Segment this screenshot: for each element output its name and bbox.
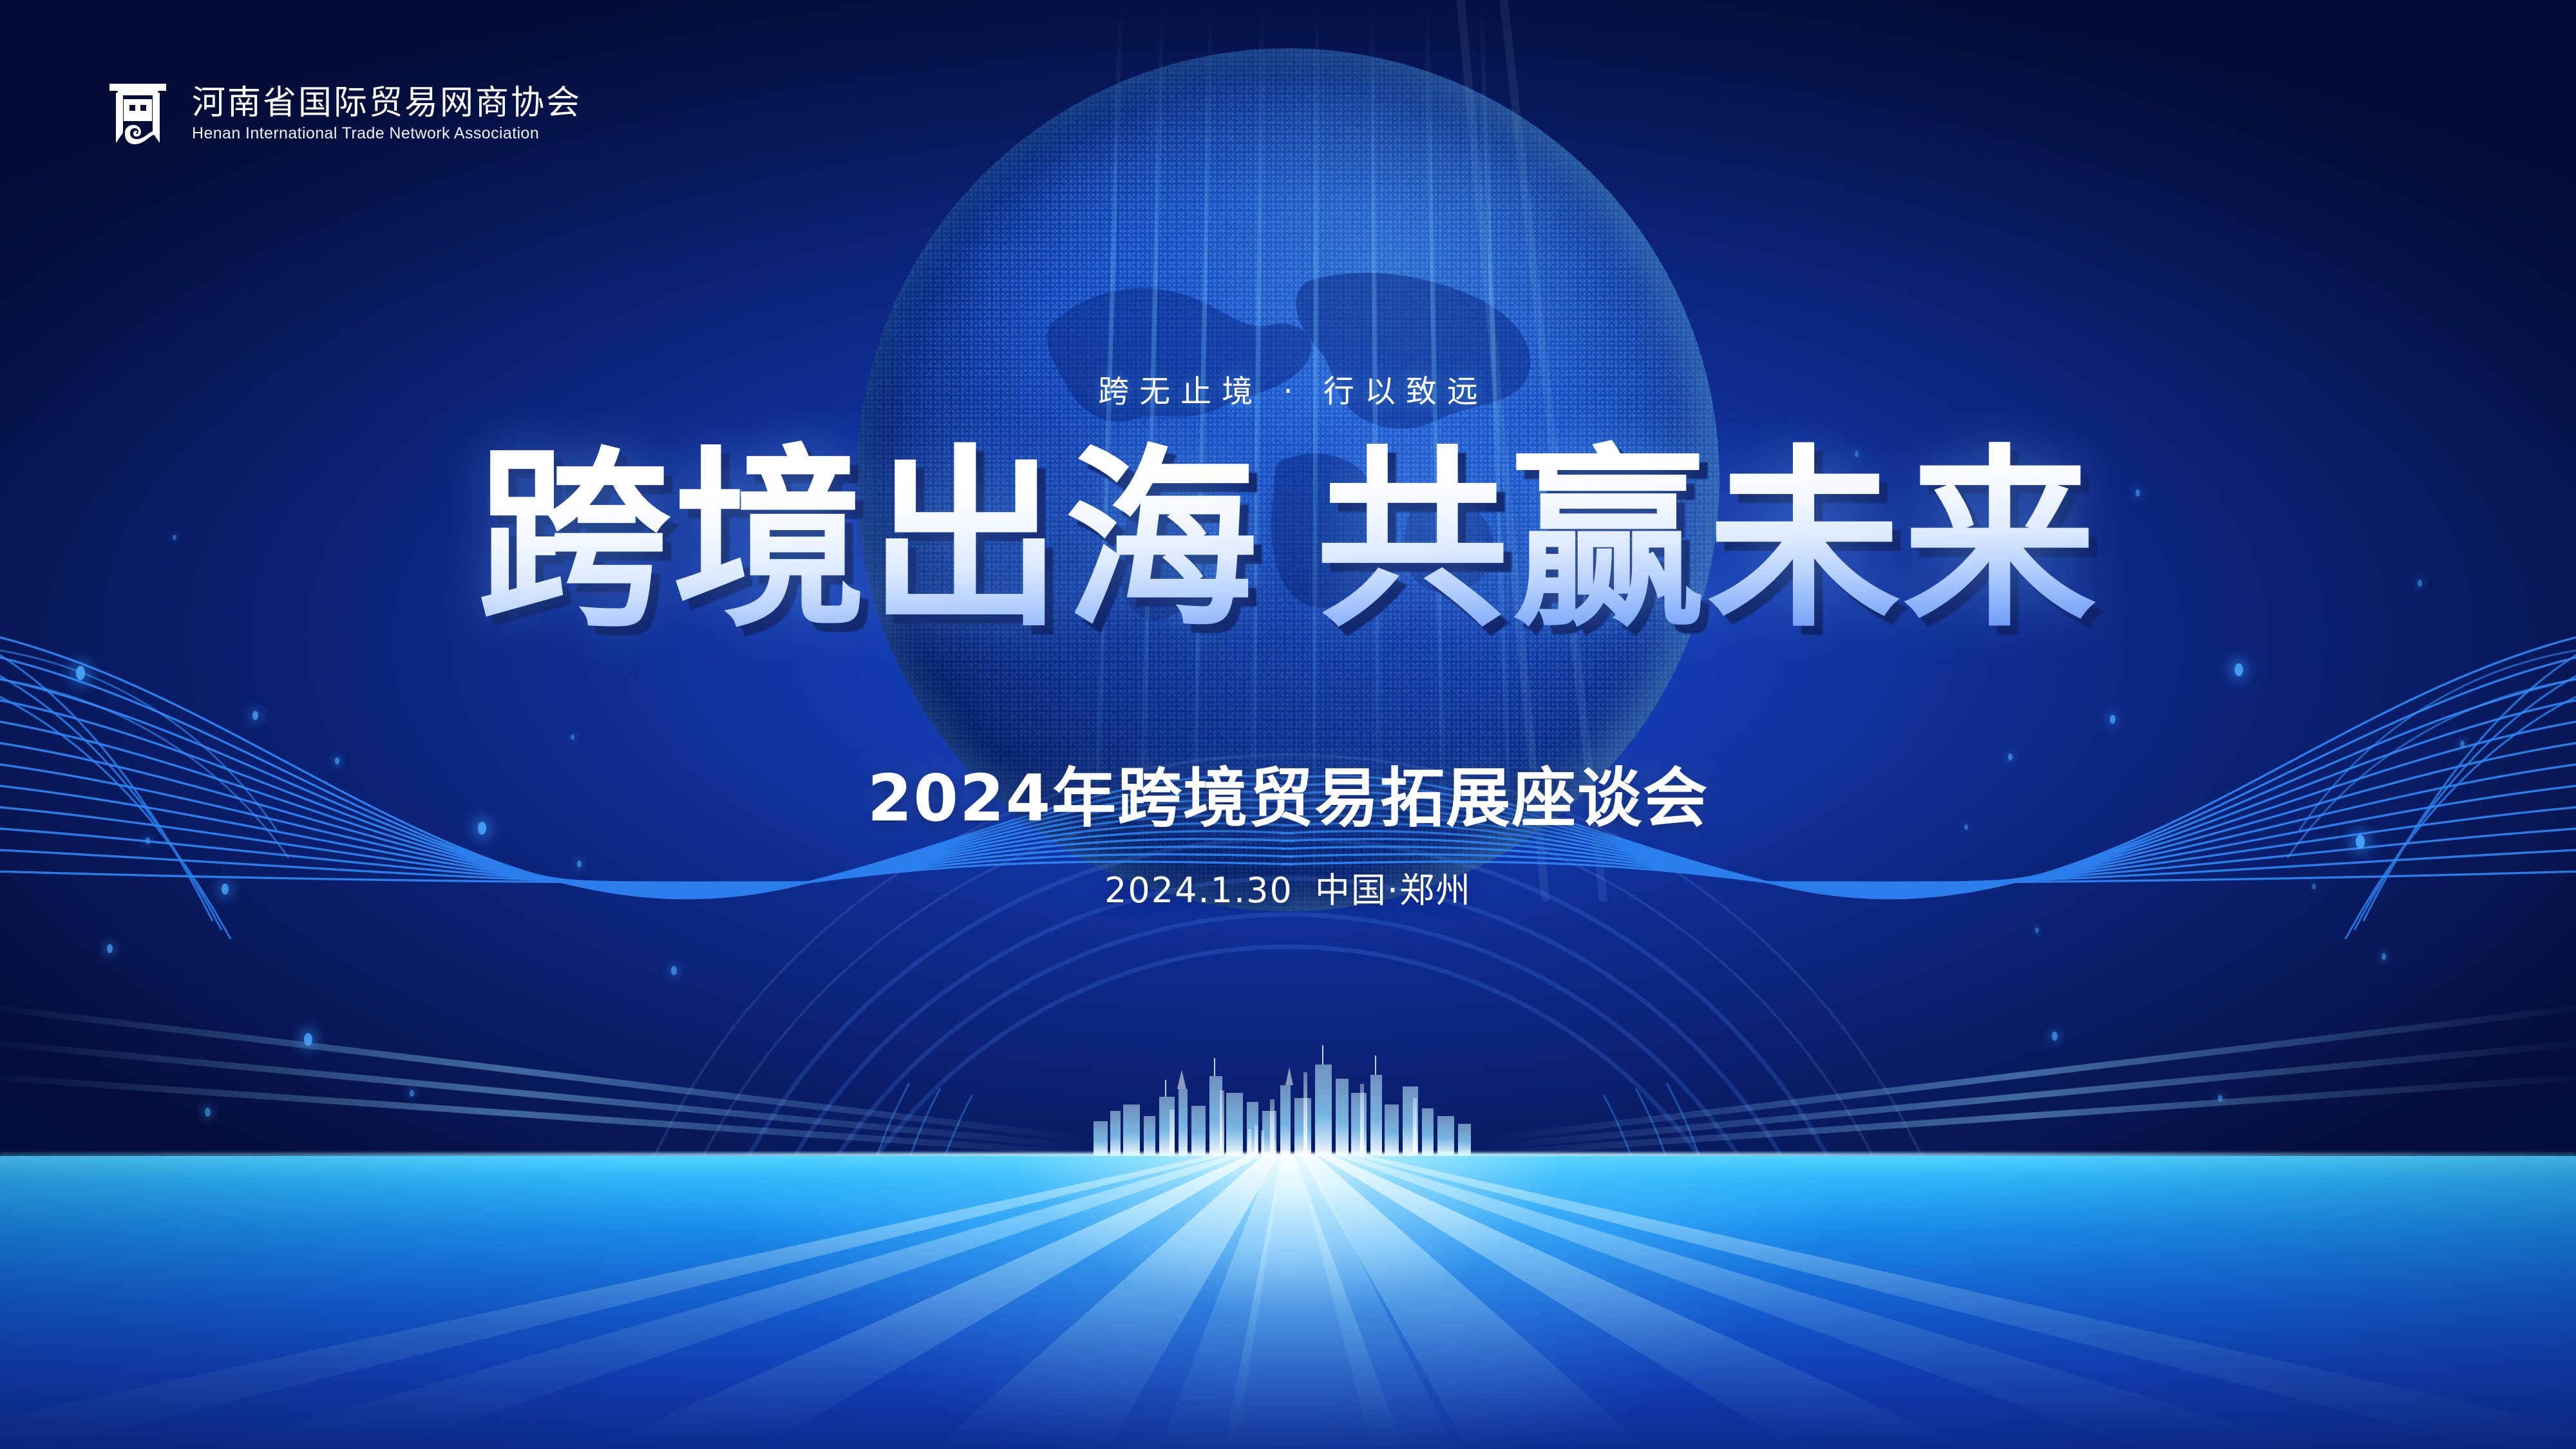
hero-title: 跨境出海共赢未来 跨境出海共赢未来 xyxy=(477,444,2099,638)
hero-title-face: 跨境出海共赢未来 xyxy=(477,428,2099,653)
ground-light-rays xyxy=(0,1156,2576,1449)
logo-text-block: 河南省国际贸易网商协会 Henan International Trade Ne… xyxy=(192,85,582,142)
city-skyline xyxy=(1082,1008,1494,1156)
event-date-location: 2024.1.30中国·郑州 xyxy=(0,862,2576,913)
hero-title-part1: 跨境出海 xyxy=(477,428,1260,653)
hero-tagline: 跨无止境 · 行以致远 xyxy=(0,366,2576,411)
hero-title-wrap: 跨境出海共赢未来 跨境出海共赢未来 xyxy=(0,444,2576,638)
poster-canvas: 河南省国际贸易网商协会 Henan International Trade Ne… xyxy=(0,0,2576,1449)
association-logo[interactable]: 河南省国际贸易网商协会 Henan International Trade Ne… xyxy=(103,77,582,149)
ground-plane xyxy=(0,1156,2576,1449)
event-location: 中国·郑州 xyxy=(1315,870,1472,911)
event-subtitle: 2024年跨境贸易拓展座谈会 xyxy=(0,746,2576,839)
logo-name-cn: 河南省国际贸易网商协会 xyxy=(192,85,582,121)
event-date: 2024.1.30 xyxy=(1104,870,1293,911)
sky-streak-lines xyxy=(0,979,2576,1166)
logo-name-en: Henan International Trade Network Associ… xyxy=(192,125,582,142)
hero-title-part2: 共赢未来 xyxy=(1316,428,2099,653)
shang-seal-emblem-icon xyxy=(103,77,173,149)
